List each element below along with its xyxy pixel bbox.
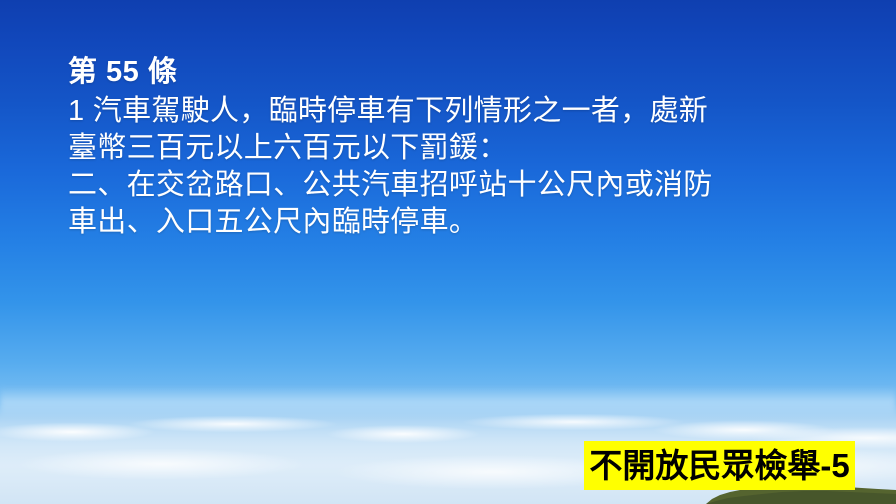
law-text-line-2: 臺幣三百元以上六百元以下罰鍰： [68,130,858,167]
law-text-block: 第 55 條 1 汽車駕駛人，臨時停車有下列情形之一者，處新 臺幣三百元以上六百… [68,53,858,241]
law-text-line-4: 車出、入口五公尺內臨時停車。 [68,204,858,241]
law-text-line-1: 1 汽車駕駛人，臨時停車有下列情形之一者，處新 [68,93,858,130]
law-article-title: 第 55 條 [68,53,858,92]
slide-canvas: 第 55 條 1 汽車駕駛人，臨時停車有下列情形之一者，處新 臺幣三百元以上六百… [0,0,896,504]
law-text-line-3: 二、在交岔路口、公共汽車招呼站十公尺內或消防 [68,167,858,204]
highlight-badge-no-public-report: 不開放民眾檢舉-5 [584,441,855,490]
